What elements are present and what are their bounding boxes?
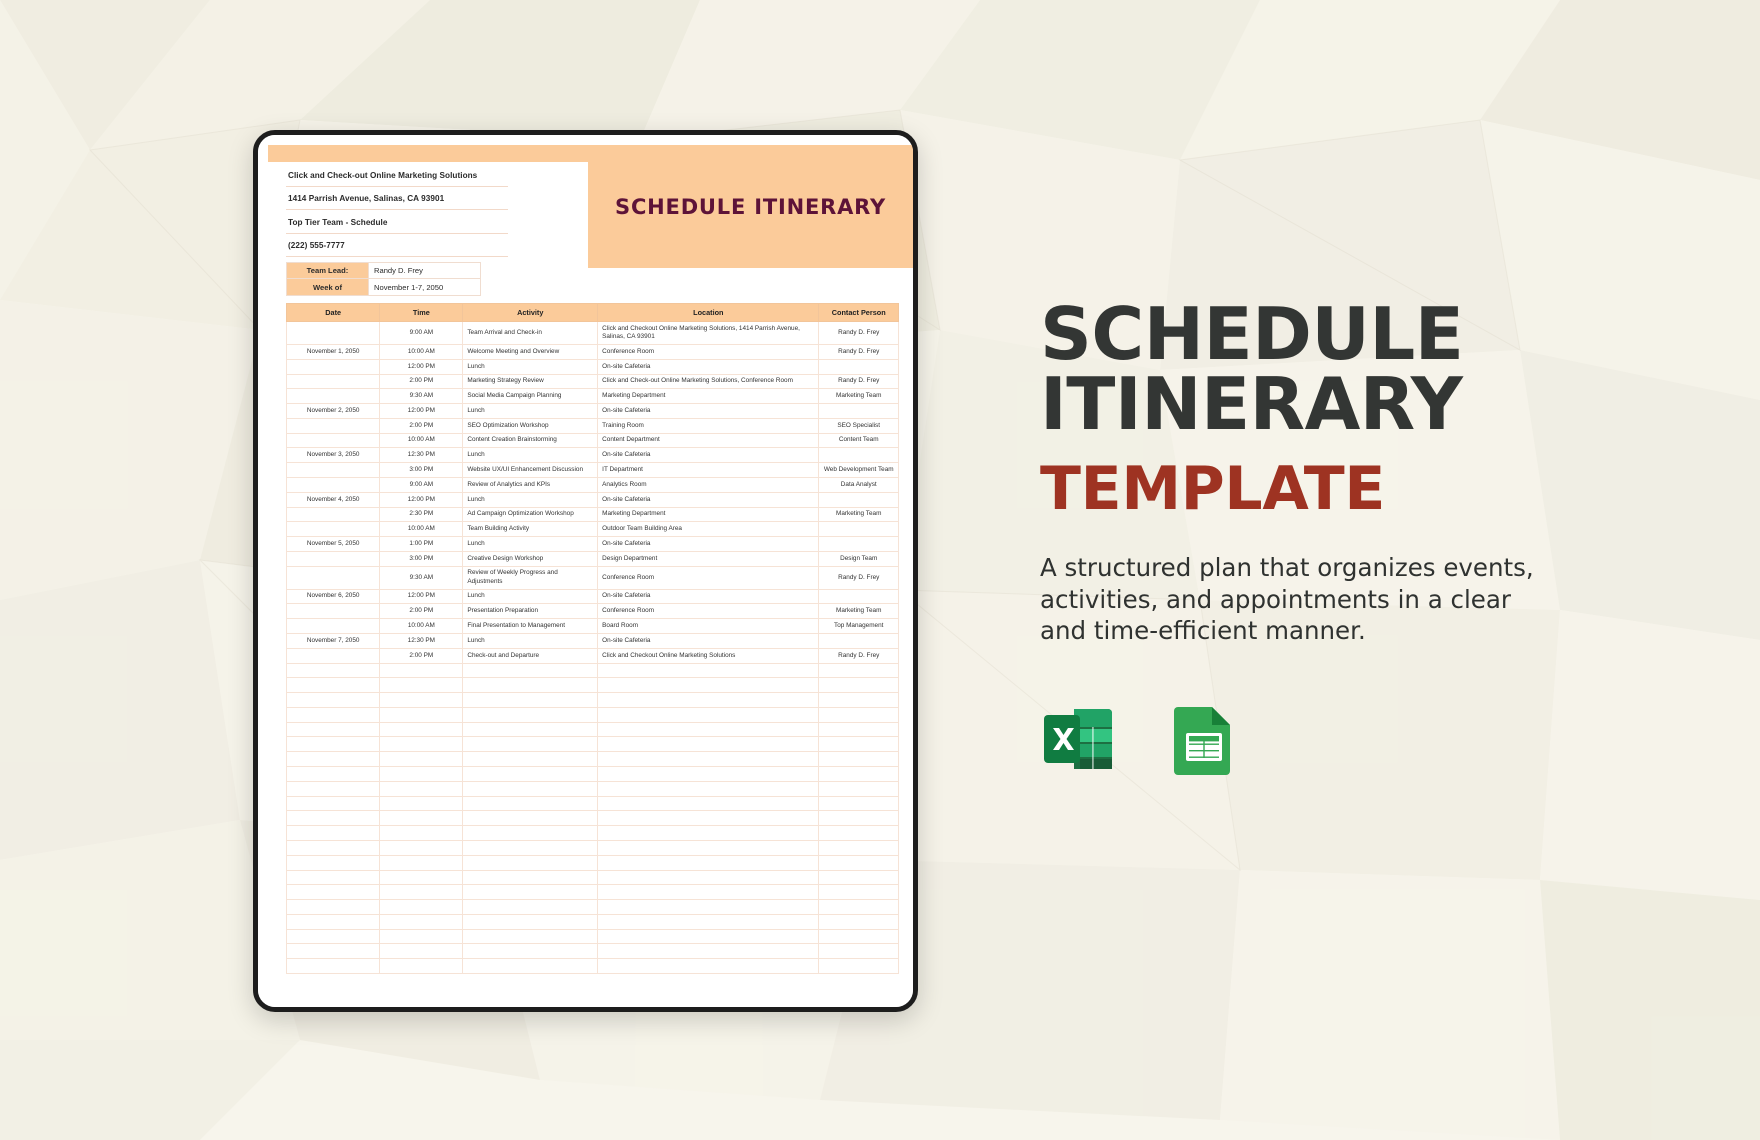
table-row-empty	[287, 855, 899, 870]
cell-contact: Data Analyst	[819, 478, 899, 493]
meta-table: Team Lead: Randy D. Frey Week of Novembe…	[286, 262, 481, 296]
cell-empty	[819, 796, 899, 811]
table-row: November 5, 20501:00 PMLunchOn-site Cafe…	[287, 537, 899, 552]
cell-empty	[463, 855, 598, 870]
table-row: 3:00 PMCreative Design WorkshopDesign De…	[287, 551, 899, 566]
schedule-table: Date Time Activity Location Contact Pers…	[286, 303, 899, 974]
meta-row-week-of: Week of November 1-7, 2050	[287, 279, 481, 295]
company-name: Click and Check-out Online Marketing Sol…	[286, 163, 508, 187]
cell-empty	[463, 811, 598, 826]
cell-empty	[819, 885, 899, 900]
document-page: SCHEDULE ITINERARY Click and Check-out O…	[258, 135, 913, 1007]
cell-empty	[287, 840, 380, 855]
table-row: 9:30 AMSocial Media Campaign PlanningMar…	[287, 389, 899, 404]
cell-empty	[819, 707, 899, 722]
cell-activity: Content Creation Brainstorming	[463, 433, 598, 448]
table-row: 2:00 PMCheck-out and DepartureClick and …	[287, 648, 899, 663]
cell-empty	[380, 855, 463, 870]
cell-empty	[463, 959, 598, 974]
cell-empty	[598, 767, 819, 782]
promo-template-word: TEMPLATE	[1040, 454, 1660, 524]
cell-empty	[380, 929, 463, 944]
google-sheets-icon[interactable]	[1162, 701, 1246, 777]
cell-time: 12:00 PM	[380, 359, 463, 374]
table-row: 9:00 AMReview of Analytics and KPIsAnaly…	[287, 478, 899, 493]
meta-value-week-of: November 1-7, 2050	[369, 279, 481, 295]
schedule-header-row: Date Time Activity Location Contact Pers…	[287, 304, 899, 322]
cell-empty	[463, 678, 598, 693]
table-row: 12:00 PMLunchOn-site Cafeteria	[287, 359, 899, 374]
cell-empty	[819, 737, 899, 752]
cell-location: Click and Checkout Online Marketing Solu…	[598, 322, 819, 345]
cell-time: 12:00 PM	[380, 492, 463, 507]
cell-empty	[380, 959, 463, 974]
cell-location: On-site Cafeteria	[598, 537, 819, 552]
cell-activity: Lunch	[463, 634, 598, 649]
cell-empty	[598, 752, 819, 767]
cell-empty	[463, 707, 598, 722]
table-row-empty	[287, 722, 899, 737]
cell-date	[287, 374, 380, 389]
table-row-empty	[287, 914, 899, 929]
cell-activity: Lunch	[463, 589, 598, 604]
cell-empty	[380, 752, 463, 767]
cell-empty	[819, 781, 899, 796]
cell-empty	[287, 870, 380, 885]
cell-activity: Lunch	[463, 537, 598, 552]
cell-location: Outdoor Team Building Area	[598, 522, 819, 537]
table-row-empty	[287, 929, 899, 944]
cell-empty	[287, 811, 380, 826]
table-row: November 1, 205010:00 AMWelcome Meeting …	[287, 344, 899, 359]
cell-date	[287, 433, 380, 448]
cell-activity: Welcome Meeting and Overview	[463, 344, 598, 359]
table-row: 9:00 AMTeam Arrival and Check-inClick an…	[287, 322, 899, 345]
table-row: 10:00 AMTeam Building ActivityOutdoor Te…	[287, 522, 899, 537]
cell-contact	[819, 522, 899, 537]
table-row-empty	[287, 840, 899, 855]
document-preview-card[interactable]: SCHEDULE ITINERARY Click and Check-out O…	[253, 130, 918, 1012]
schedule-table-wrapper: Date Time Activity Location Contact Pers…	[286, 303, 899, 974]
cell-empty	[287, 796, 380, 811]
cell-contact: Randy D. Frey	[819, 566, 899, 589]
cell-empty	[287, 707, 380, 722]
cell-empty	[287, 767, 380, 782]
cell-empty	[380, 767, 463, 782]
cell-activity: Review of Weekly Progress and Adjustment…	[463, 566, 598, 589]
banner-title: SCHEDULE ITINERARY	[615, 195, 886, 219]
table-row: November 4, 205012:00 PMLunchOn-site Caf…	[287, 492, 899, 507]
cell-empty	[380, 678, 463, 693]
cell-empty	[819, 929, 899, 944]
cell-empty	[598, 707, 819, 722]
cell-empty	[287, 752, 380, 767]
cell-date	[287, 604, 380, 619]
cell-time: 12:30 PM	[380, 634, 463, 649]
meta-label-week-of: Week of	[287, 279, 369, 295]
cell-contact	[819, 448, 899, 463]
cell-activity: Team Building Activity	[463, 522, 598, 537]
cell-empty	[380, 826, 463, 841]
cell-location: IT Department	[598, 463, 819, 478]
cell-location: On-site Cafeteria	[598, 492, 819, 507]
table-row-empty	[287, 870, 899, 885]
table-row-empty	[287, 693, 899, 708]
cell-date	[287, 507, 380, 522]
cell-empty	[598, 678, 819, 693]
cell-empty	[598, 944, 819, 959]
cell-location: On-site Cafeteria	[598, 404, 819, 419]
cell-empty	[598, 840, 819, 855]
table-row: November 2, 205012:00 PMLunchOn-site Caf…	[287, 404, 899, 419]
table-row-empty	[287, 885, 899, 900]
cell-activity: Marketing Strategy Review	[463, 374, 598, 389]
cell-empty	[287, 885, 380, 900]
cell-empty	[380, 737, 463, 752]
cell-activity: Lunch	[463, 448, 598, 463]
cell-time: 9:00 AM	[380, 322, 463, 345]
cell-empty	[819, 944, 899, 959]
cell-contact: Randy D. Frey	[819, 344, 899, 359]
table-row-empty	[287, 811, 899, 826]
cell-contact	[819, 492, 899, 507]
cell-empty	[463, 767, 598, 782]
cell-contact	[819, 634, 899, 649]
table-row: 2:00 PMMarketing Strategy ReviewClick an…	[287, 374, 899, 389]
cell-date	[287, 418, 380, 433]
cell-location: Click and Check-out Online Marketing Sol…	[598, 374, 819, 389]
cell-location: Board Room	[598, 619, 819, 634]
cell-date: November 6, 2050	[287, 589, 380, 604]
cell-location: On-site Cafeteria	[598, 448, 819, 463]
cell-empty	[380, 707, 463, 722]
cell-empty	[287, 914, 380, 929]
cell-empty	[598, 929, 819, 944]
cell-activity: Social Media Campaign Planning	[463, 389, 598, 404]
table-row: 3:00 PMWebsite UX/UI Enhancement Discuss…	[287, 463, 899, 478]
cell-time: 2:30 PM	[380, 507, 463, 522]
cell-empty	[598, 663, 819, 678]
cell-empty	[287, 737, 380, 752]
cell-empty	[819, 811, 899, 826]
cell-activity: SEO Optimization Workshop	[463, 418, 598, 433]
cell-time: 12:30 PM	[380, 448, 463, 463]
cell-contact: Marketing Team	[819, 507, 899, 522]
cell-empty	[598, 870, 819, 885]
cell-empty	[287, 929, 380, 944]
cell-time: 10:00 AM	[380, 344, 463, 359]
cell-activity: Lunch	[463, 359, 598, 374]
cell-location: Analytics Room	[598, 478, 819, 493]
meta-row-team-lead: Team Lead: Randy D. Frey	[287, 263, 481, 279]
table-row: 10:00 AMFinal Presentation to Management…	[287, 619, 899, 634]
cell-empty	[598, 722, 819, 737]
cell-date	[287, 389, 380, 404]
schedule-table-body: 9:00 AMTeam Arrival and Check-inClick an…	[287, 322, 899, 974]
cell-activity: Creative Design Workshop	[463, 551, 598, 566]
cell-activity: Ad Campaign Optimization Workshop	[463, 507, 598, 522]
cell-empty	[819, 826, 899, 841]
cell-empty	[380, 944, 463, 959]
cell-empty	[463, 840, 598, 855]
cell-empty	[598, 885, 819, 900]
cell-activity: Website UX/UI Enhancement Discussion	[463, 463, 598, 478]
file-format-icons	[1040, 701, 1660, 777]
table-row-empty	[287, 796, 899, 811]
table-row: 9:30 AMReview of Weekly Progress and Adj…	[287, 566, 899, 589]
cell-time: 2:00 PM	[380, 374, 463, 389]
cell-activity: Review of Analytics and KPIs	[463, 478, 598, 493]
cell-contact: Web Development Team	[819, 463, 899, 478]
cell-empty	[463, 885, 598, 900]
cell-contact	[819, 589, 899, 604]
cell-empty	[380, 900, 463, 915]
cell-empty	[380, 722, 463, 737]
cell-time: 2:00 PM	[380, 648, 463, 663]
cell-contact: SEO Specialist	[819, 418, 899, 433]
meta-label-team-lead: Team Lead:	[287, 263, 369, 279]
banner-title-block: SCHEDULE ITINERARY	[588, 145, 913, 268]
table-row-empty	[287, 737, 899, 752]
cell-contact: Randy D. Frey	[819, 648, 899, 663]
cell-empty	[463, 722, 598, 737]
cell-contact: Randy D. Frey	[819, 322, 899, 345]
cell-date: November 7, 2050	[287, 634, 380, 649]
cell-empty	[287, 959, 380, 974]
cell-empty	[819, 693, 899, 708]
cell-empty	[463, 796, 598, 811]
promo-panel: SCHEDULE ITINERARY TEMPLATE A structured…	[1040, 300, 1660, 777]
cell-time: 9:30 AM	[380, 566, 463, 589]
cell-empty	[819, 914, 899, 929]
cell-location: On-site Cafeteria	[598, 589, 819, 604]
promo-description: A structured plan that organizes events,…	[1040, 552, 1560, 648]
cell-time: 9:30 AM	[380, 389, 463, 404]
cell-contact: Marketing Team	[819, 389, 899, 404]
cell-empty	[598, 826, 819, 841]
cell-empty	[380, 885, 463, 900]
cell-date: November 5, 2050	[287, 537, 380, 552]
cell-time: 9:00 AM	[380, 478, 463, 493]
cell-empty	[463, 826, 598, 841]
table-row-empty	[287, 781, 899, 796]
cell-location: Content Department	[598, 433, 819, 448]
cell-empty	[598, 781, 819, 796]
cell-empty	[463, 781, 598, 796]
cell-empty	[819, 959, 899, 974]
promo-title-line2: ITINERARY	[1040, 370, 1660, 440]
cell-time: 12:00 PM	[380, 589, 463, 604]
cell-empty	[463, 944, 598, 959]
cell-date	[287, 322, 380, 345]
cell-activity: Presentation Preparation	[463, 604, 598, 619]
cell-contact	[819, 537, 899, 552]
cell-time: 2:00 PM	[380, 604, 463, 619]
company-address: 1414 Parrish Avenue, Salinas, CA 93901	[286, 187, 508, 211]
cell-date	[287, 551, 380, 566]
cell-empty	[287, 781, 380, 796]
column-header-location: Location	[598, 304, 819, 322]
table-row-empty	[287, 959, 899, 974]
cell-contact	[819, 359, 899, 374]
cell-activity: Lunch	[463, 404, 598, 419]
cell-date	[287, 522, 380, 537]
table-row-empty	[287, 826, 899, 841]
cell-empty	[598, 900, 819, 915]
cell-location: Training Room	[598, 418, 819, 433]
table-row-empty	[287, 900, 899, 915]
cell-date	[287, 463, 380, 478]
cell-empty	[380, 796, 463, 811]
company-info-block: Click and Check-out Online Marketing Sol…	[286, 163, 508, 257]
cell-time: 10:00 AM	[380, 433, 463, 448]
cell-location: Click and Checkout Online Marketing Solu…	[598, 648, 819, 663]
cell-empty	[463, 914, 598, 929]
cell-empty	[287, 693, 380, 708]
cell-location: Design Department	[598, 551, 819, 566]
cell-empty	[598, 855, 819, 870]
cell-contact: Top Management	[819, 619, 899, 634]
cell-contact: Content Team	[819, 433, 899, 448]
cell-date: November 4, 2050	[287, 492, 380, 507]
cell-empty	[463, 870, 598, 885]
cell-empty	[598, 693, 819, 708]
cell-empty	[819, 840, 899, 855]
cell-time: 12:00 PM	[380, 404, 463, 419]
cell-time: 1:00 PM	[380, 537, 463, 552]
table-row: 2:00 PMPresentation PreparationConferenc…	[287, 604, 899, 619]
cell-empty	[819, 722, 899, 737]
column-header-activity: Activity	[463, 304, 598, 322]
cell-empty	[819, 870, 899, 885]
cell-date: November 3, 2050	[287, 448, 380, 463]
cell-contact: Randy D. Frey	[819, 374, 899, 389]
cell-empty	[598, 796, 819, 811]
cell-empty	[380, 663, 463, 678]
cell-location: Marketing Department	[598, 507, 819, 522]
cell-empty	[819, 663, 899, 678]
cell-time: 2:00 PM	[380, 418, 463, 433]
cell-time: 10:00 AM	[380, 522, 463, 537]
cell-empty	[380, 811, 463, 826]
cell-empty	[819, 900, 899, 915]
cell-date: November 1, 2050	[287, 344, 380, 359]
excel-icon[interactable]	[1040, 701, 1124, 777]
cell-time: 3:00 PM	[380, 463, 463, 478]
table-row: November 6, 205012:00 PMLunchOn-site Caf…	[287, 589, 899, 604]
table-row-empty	[287, 678, 899, 693]
cell-empty	[380, 914, 463, 929]
cell-contact: Design Team	[819, 551, 899, 566]
cell-contact: Marketing Team	[819, 604, 899, 619]
cell-empty	[380, 693, 463, 708]
cell-empty	[598, 811, 819, 826]
cell-date	[287, 648, 380, 663]
cell-empty	[598, 914, 819, 929]
cell-empty	[598, 737, 819, 752]
cell-empty	[380, 840, 463, 855]
cell-empty	[598, 959, 819, 974]
column-header-contact-person: Contact Person	[819, 304, 899, 322]
cell-activity: Check-out and Departure	[463, 648, 598, 663]
table-row: 2:30 PMAd Campaign Optimization Workshop…	[287, 507, 899, 522]
table-row: 2:00 PMSEO Optimization WorkshopTraining…	[287, 418, 899, 433]
table-row-empty	[287, 707, 899, 722]
schedule-subtitle: Top Tier Team - Schedule	[286, 210, 508, 234]
promo-title: SCHEDULE ITINERARY	[1040, 300, 1660, 440]
cell-empty	[819, 678, 899, 693]
cell-empty	[287, 663, 380, 678]
cell-contact	[819, 404, 899, 419]
cell-date	[287, 359, 380, 374]
cell-time: 3:00 PM	[380, 551, 463, 566]
table-row: November 3, 205012:30 PMLunchOn-site Caf…	[287, 448, 899, 463]
cell-location: On-site Cafeteria	[598, 359, 819, 374]
cell-empty	[287, 678, 380, 693]
cell-empty	[463, 752, 598, 767]
cell-location: Conference Room	[598, 566, 819, 589]
cell-location: Conference Room	[598, 604, 819, 619]
cell-empty	[380, 781, 463, 796]
cell-location: Conference Room	[598, 344, 819, 359]
cell-empty	[463, 693, 598, 708]
cell-activity: Team Arrival and Check-in	[463, 322, 598, 345]
cell-empty	[819, 767, 899, 782]
table-row-empty	[287, 663, 899, 678]
cell-date: November 2, 2050	[287, 404, 380, 419]
column-header-date: Date	[287, 304, 380, 322]
cell-activity: Lunch	[463, 492, 598, 507]
cell-empty	[287, 944, 380, 959]
cell-date	[287, 619, 380, 634]
table-row-empty	[287, 767, 899, 782]
table-row-empty	[287, 944, 899, 959]
table-row: 10:00 AMContent Creation BrainstormingCo…	[287, 433, 899, 448]
cell-empty	[463, 900, 598, 915]
cell-location: On-site Cafeteria	[598, 634, 819, 649]
cell-date	[287, 478, 380, 493]
cell-empty	[463, 663, 598, 678]
cell-empty	[287, 900, 380, 915]
cell-date	[287, 566, 380, 589]
cell-empty	[380, 870, 463, 885]
company-phone: (222) 555-7777	[286, 234, 508, 258]
cell-empty	[287, 826, 380, 841]
column-header-time: Time	[380, 304, 463, 322]
cell-empty	[463, 737, 598, 752]
cell-activity: Final Presentation to Management	[463, 619, 598, 634]
cell-empty	[463, 929, 598, 944]
cell-time: 10:00 AM	[380, 619, 463, 634]
cell-empty	[287, 722, 380, 737]
cell-empty	[819, 752, 899, 767]
cell-location: Marketing Department	[598, 389, 819, 404]
cell-empty	[287, 855, 380, 870]
meta-value-team-lead: Randy D. Frey	[369, 263, 481, 279]
table-row: November 7, 205012:30 PMLunchOn-site Caf…	[287, 634, 899, 649]
cell-empty	[819, 855, 899, 870]
table-row-empty	[287, 752, 899, 767]
